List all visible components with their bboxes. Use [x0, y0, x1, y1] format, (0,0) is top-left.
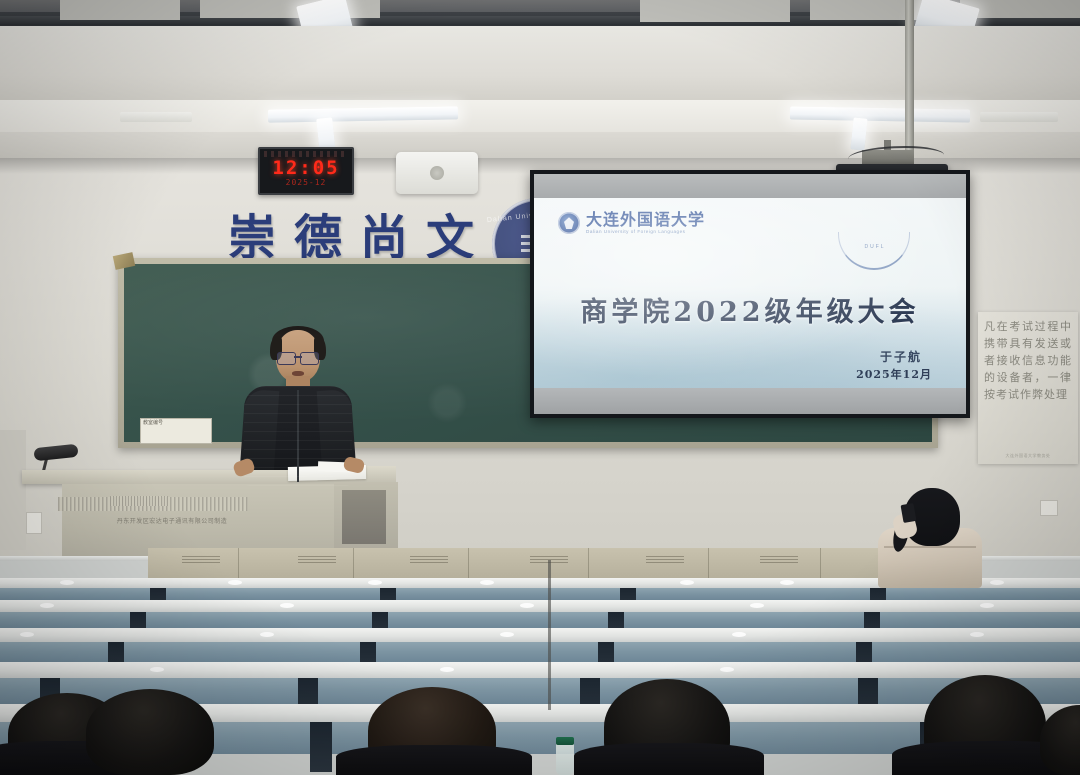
projection-screen: 大连外国语大学 Dalian University of Foreign Lan… — [530, 170, 970, 418]
slide-author: 于子航 — [880, 348, 922, 365]
seat-row — [0, 628, 1080, 662]
exam-rules-footer: 大连外国语大学教务处 — [984, 453, 1072, 459]
podium-speaker-grille — [110, 496, 168, 506]
seat-row — [0, 600, 1080, 628]
logo-name-en: Dalian University of Foreign Languages — [586, 230, 705, 235]
audience-shoulder-silhouette — [336, 745, 532, 775]
ceiling-support-pole — [905, 0, 914, 160]
podium-equipment-slot — [342, 490, 386, 544]
wifi-access-point — [396, 152, 478, 194]
slide-date: 2025年12月 — [856, 366, 932, 382]
slide-university-logo: 大连外国语大学 Dalian University of Foreign Lan… — [558, 212, 705, 235]
digital-clock: 12:05 2025-12 — [258, 147, 354, 195]
podium-side-bay — [334, 482, 398, 552]
ceiling-light-recessed — [120, 112, 192, 122]
screen-letterbox-bottom — [534, 388, 966, 414]
water-bottle — [556, 742, 574, 775]
exam-rules-text: 凡在考试过程中携带具有发送或者接收信息功能的设备者，一律按考试作弊处理 — [984, 318, 1072, 403]
presenter-person — [236, 330, 360, 480]
clock-time: 12:05 — [260, 157, 352, 179]
glasses-icon — [277, 352, 319, 363]
university-logo-icon — [558, 212, 580, 234]
ceiling-panel — [640, 0, 790, 22]
screen-letterbox-top — [534, 174, 966, 198]
lecture-hall-photo: 12:05 2025-12 崇德尚文 Dalian University 教室编… — [0, 0, 1080, 775]
audience-shoulder-silhouette — [574, 743, 764, 775]
presentation-slide: 大连外国语大学 Dalian University of Foreign Lan… — [534, 198, 966, 388]
wall-outlet[interactable] — [26, 512, 42, 534]
bottle-cap — [556, 737, 574, 745]
floor-cable — [548, 560, 551, 710]
audience-photographer — [878, 488, 982, 586]
jacket-quilting — [244, 386, 352, 486]
exam-rules-notice: 凡在考试过程中携带具有发送或者接收信息功能的设备者，一律按考试作弊处理 大连外国… — [978, 312, 1078, 464]
slide-emblem-text: DUFL — [846, 244, 904, 250]
wall-switch[interactable] — [1040, 500, 1058, 516]
ceiling-panel — [60, 0, 180, 20]
ap-indicator-icon — [430, 166, 444, 180]
ceiling-light-recessed — [980, 112, 1058, 122]
logo-name-cn: 大连外国语大学 — [586, 212, 705, 228]
audience-head-silhouette — [86, 689, 214, 775]
back-cabinets — [148, 548, 888, 578]
slide-emblem-arc — [838, 232, 910, 270]
board-room-label: 教室编号 — [140, 418, 212, 444]
clock-date: 2025-12 — [260, 178, 352, 187]
wall-corner — [0, 430, 26, 550]
ceiling-soffit — [0, 26, 1080, 108]
podium-manufacturer-label: 丹东开发区宏达电子通讯有限公司制造 — [62, 516, 282, 525]
slide-title: 商学院2022级年级大会 — [534, 290, 966, 329]
ceiling-panel — [200, 0, 380, 18]
